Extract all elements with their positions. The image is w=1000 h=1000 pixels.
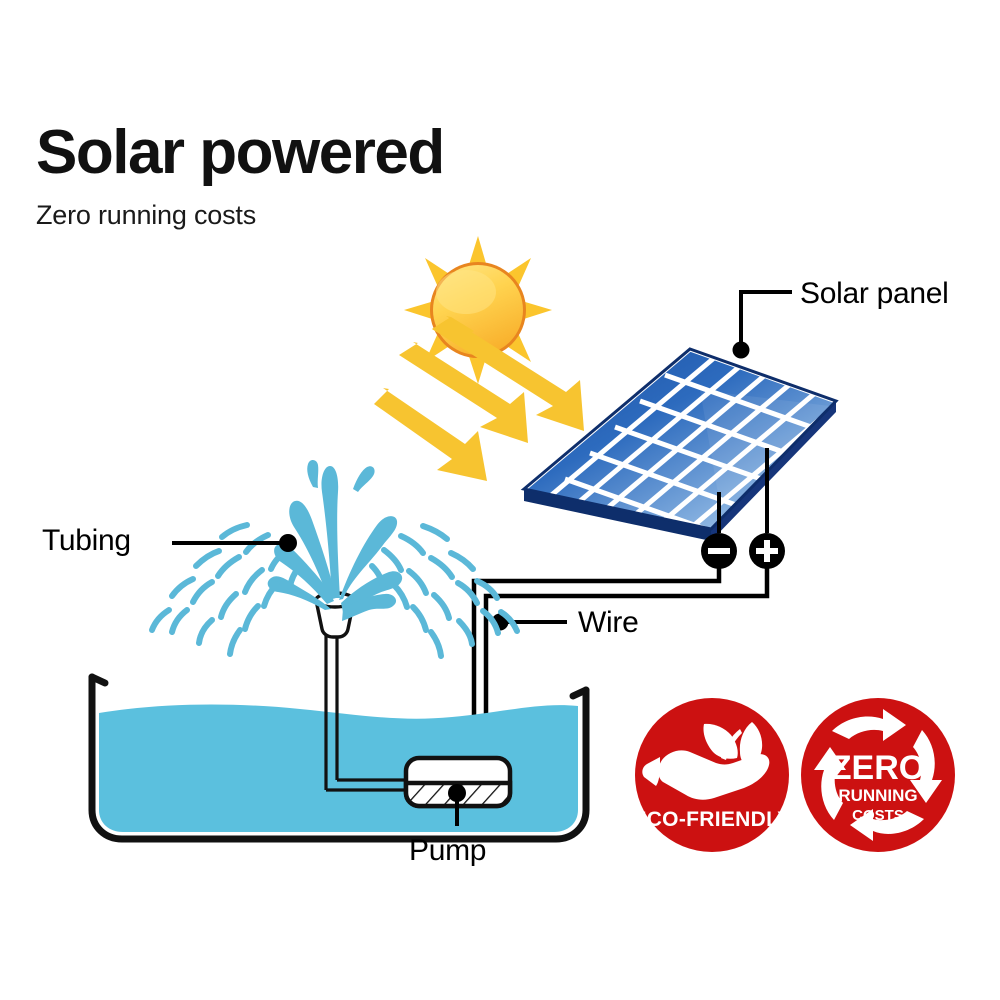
infographic-canvas: Solar powered Zero running costs: [0, 0, 1000, 1000]
label-tubing: Tubing: [42, 524, 131, 558]
badge-eco-label: ECO-FRIENDLY: [632, 808, 791, 831]
badge-eco-friendly[interactable]: ECO-FRIENDLY: [632, 698, 791, 852]
sunlight-arrow-icon: [374, 316, 584, 481]
diagram-artwork: ECO-FRIENDLY ZERO RUNNING COSTS: [0, 0, 1000, 1000]
label-wire: Wire: [578, 606, 638, 640]
water-basin-icon: [92, 677, 586, 839]
badge-zero-running-costs[interactable]: ZERO RUNNING COSTS: [801, 698, 955, 852]
badge-zero-line3: COSTS: [852, 807, 904, 824]
badge-zero-line1: ZERO: [831, 749, 925, 787]
solar-panel-icon: [500, 344, 864, 557]
label-pump: Pump: [409, 834, 486, 868]
solar-panel-leader-dot: [733, 342, 750, 359]
solar-panel-leader: [741, 292, 792, 350]
badge-zero-line2: RUNNING: [838, 786, 917, 805]
label-solar-panel: Solar panel: [800, 277, 948, 311]
